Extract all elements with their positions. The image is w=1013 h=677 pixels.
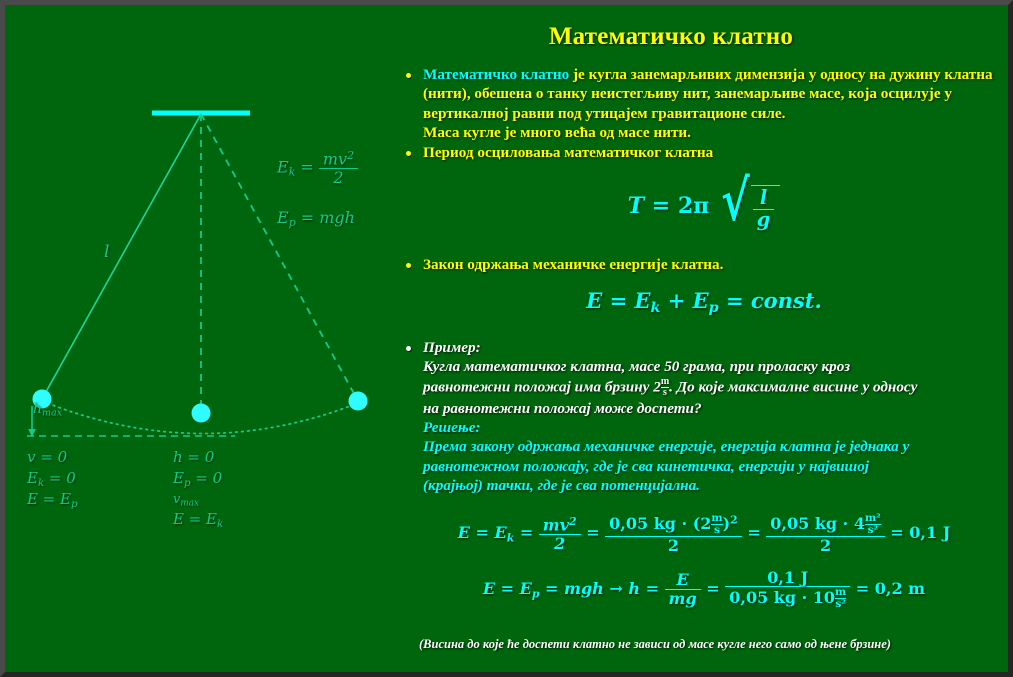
kin-fraction-3: 0,05 kg · 4m²s² 2 [766, 513, 884, 554]
formula-conservation: E = Ek + Ep = const. [398, 288, 1010, 316]
kin-eq2: = [520, 523, 533, 542]
solution-line1: Према закону одржања механичке енергије,… [423, 437, 1010, 456]
term-pendulum: Математичко клатно [423, 66, 569, 83]
ek-equals: = [300, 158, 313, 177]
kin-E: E [458, 523, 470, 542]
pot-Ep: E [520, 579, 532, 598]
diagram-ek-formula: Ek = mv2 2 [277, 150, 358, 186]
center-state-e: E = Ek [173, 510, 223, 530]
period-T: T [628, 194, 644, 220]
ek-fraction-numerator: mv2 [319, 150, 358, 168]
pot-h: h [628, 579, 640, 598]
page-title: Математичко клатно [371, 23, 971, 51]
pot-arrow-icon: → [609, 579, 622, 598]
example-line2: равнотежни положај има брзину 2ms. До ко… [423, 377, 1010, 399]
kin-f3-num: 0,05 kg · 4m²s² [766, 513, 884, 536]
pot-eq4: = [706, 579, 719, 598]
center-state-ep: Ep = 0 [173, 469, 222, 489]
kin-result: 0,1 J [909, 523, 950, 542]
kin-fraction-2: 0,05 kg · (2ms)2 2 [605, 513, 742, 554]
example-line2-b: . До које максималне висине у односу [669, 378, 917, 395]
sqrt-radicand: l g [751, 185, 781, 231]
pot-f1-num: E [665, 571, 701, 588]
cons-eq1: = [610, 288, 628, 313]
content-column: Математичко клатно је кугла занемарљивих… [398, 65, 1010, 610]
unit-m-per-s-2: ms [711, 513, 722, 536]
ek-subscript: k [289, 166, 296, 179]
period-coefficient: 2π [678, 194, 709, 220]
solution-line3: (крајњој) тачки, где је сва потенцијална… [423, 476, 1010, 495]
kin-f3-den: 2 [766, 536, 884, 554]
pot-f2-num: 0,1 J [725, 569, 850, 586]
ek-fraction-denominator: 2 [319, 168, 358, 186]
cons-Ek-sub: k [651, 300, 661, 316]
pendulum-diagram: Ek = mv2 2 Ep = mgh l hmax v = 0 Ek = 0 … [5, 65, 395, 545]
bullet-example: Пример: Кугла математичког клатна, масе … [398, 338, 1010, 495]
cons-E: E [586, 288, 602, 313]
ep-symbol: E [277, 208, 289, 227]
bob-center [192, 404, 211, 423]
example-heading: Пример: [423, 338, 1010, 357]
kin-eq1: = [476, 523, 489, 542]
left-state-e: E = Ep [27, 490, 78, 510]
bullet-conservation-text: Закон одржања механичке енергије клатна. [423, 255, 1010, 274]
pot-eq2: = [545, 579, 558, 598]
bullet-definition-text: Математичко клатно је кугла занемарљивих… [423, 65, 1010, 123]
bullet-period-text: Период осциловања математичког клатна [423, 143, 1010, 162]
string-left-solid [42, 114, 201, 399]
kin-eq5: = [890, 523, 903, 542]
formula-potential-calculation: E = Ep = mgh → h = E mg = 0,1 J 0,05 kg … [398, 569, 1010, 610]
cons-const: const. [751, 288, 822, 313]
unit-m-per-s: ms [661, 377, 669, 399]
diagram-ep-formula: Ep = mgh [277, 208, 355, 229]
cons-Ep: E [693, 288, 709, 313]
kin-fraction-1: mv2 2 [539, 516, 581, 552]
pot-result: 0,2 m [875, 579, 925, 598]
example-line2-a: равнотежни положај има брзину 2 [423, 378, 661, 395]
period-fraction-denominator: g [753, 209, 775, 231]
pot-eq3: = [646, 579, 659, 598]
example-line3: на равнотежни положај може доспети? [423, 399, 1010, 418]
kin-f1-den: 2 [539, 534, 581, 552]
bullet-period: Период осциловања математичког клатна [398, 143, 1010, 162]
hmax-label: hmax [33, 401, 62, 419]
pot-mgh: mgh [564, 579, 604, 598]
cons-Ep-sub: p [709, 300, 719, 316]
pot-eq5: = [856, 579, 869, 598]
formula-kinetic-calculation: E = Ek = mv2 2 = 0,05 kg · (2ms)2 2 = 0,… [398, 513, 1010, 554]
left-state-ek: Ek = 0 [27, 469, 76, 489]
period-equals: = [652, 194, 670, 220]
kin-Ek-sub: k [507, 531, 515, 544]
kin-f2-den: 2 [605, 536, 742, 554]
ep-equation: = mgh [301, 208, 355, 227]
pot-f1-den: mg [665, 589, 701, 607]
slide-canvas: Математичко клатно [5, 5, 1008, 672]
cons-plus: + [668, 288, 686, 313]
ek-symbol: E [277, 158, 289, 177]
solution-label: Решење: [423, 418, 1010, 437]
kin-f1-num: mv2 [539, 516, 581, 534]
cons-Ek: E [634, 288, 650, 313]
pot-fraction-2: 0,1 J 0,05 kg · 10ms² [725, 569, 850, 610]
kin-f2-num: 0,05 kg · (2ms)2 [605, 513, 742, 536]
unit-m2-per-s2: m²s² [865, 513, 881, 536]
pot-f2-den: 0,05 kg · 10ms² [725, 586, 850, 610]
bullet-definition-line2: Маса кугле је много већа од масе нити. [423, 123, 1010, 142]
pot-Ep-sub: p [532, 587, 540, 600]
center-state-h: h = 0 [173, 448, 214, 466]
bullet-conservation: Закон одржања механичке енергије клатна. [398, 255, 1010, 274]
ek-fraction: mv2 2 [319, 150, 358, 186]
example-line1: Кугла математичког клатна, масе 50 грама… [423, 357, 1010, 376]
center-state-vmax: vmax [173, 492, 199, 508]
kin-eq4: = [747, 523, 760, 542]
pot-eq1: = [501, 579, 514, 598]
period-sqrt: √ l g [717, 184, 780, 230]
period-fraction-numerator: l [753, 188, 775, 209]
kin-Ek: E [494, 523, 506, 542]
length-label: l [104, 242, 109, 262]
period-fraction: l g [753, 188, 775, 231]
bullet-definition: Математичко клатно је кугла занемарљивих… [398, 65, 1010, 142]
cons-eq2: = [726, 288, 744, 313]
sqrt-icon: √ [721, 184, 750, 219]
solution-line2: равнотежном положају, где је сва кинетич… [423, 457, 1010, 476]
bob-right [349, 392, 368, 411]
pot-fraction-1: E mg [665, 571, 701, 607]
pot-E: E [483, 579, 495, 598]
footnote: (Висина до које ће доспети клатно не зав… [419, 637, 1009, 652]
unit-m-per-s2: ms² [835, 587, 846, 610]
slide-frame: Математичко клатно [0, 0, 1013, 677]
formula-period: T = 2π √ l g [398, 184, 1010, 230]
kin-eq3: = [586, 523, 599, 542]
left-state-v: v = 0 [27, 448, 67, 466]
ep-subscript: p [289, 216, 296, 229]
